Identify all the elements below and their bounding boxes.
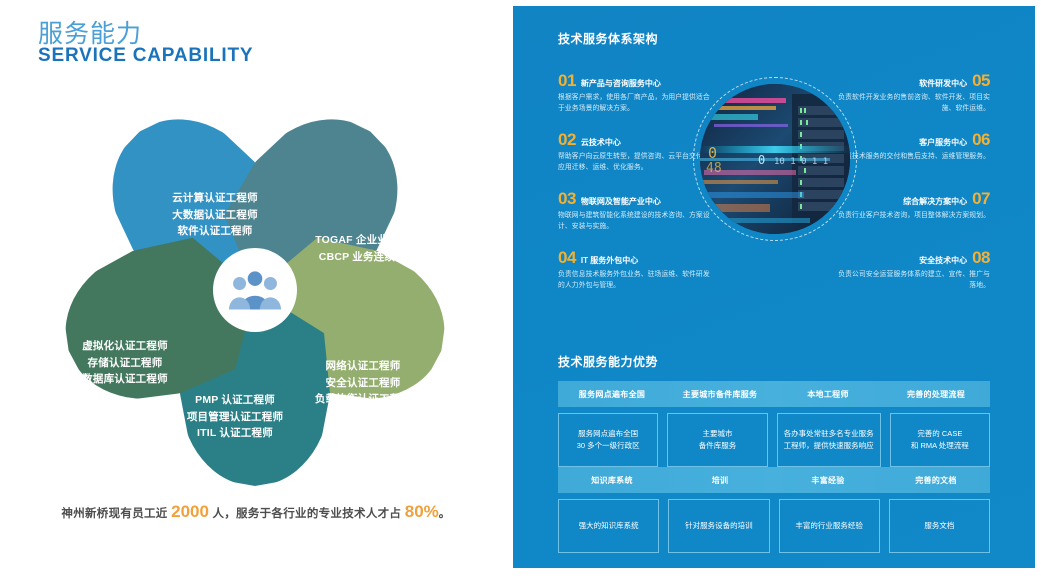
advantage-cell-line: 30 多个一级行政区 [577,440,640,452]
svg-text:0: 0 [758,153,765,167]
svg-text:48: 48 [706,161,722,176]
advantage-cell-line: 服务网点遍布全国 [578,428,638,440]
advantage-header-cell: 完善的处理流程 [882,381,990,407]
advantage-cell-line: 备件库服务 [699,440,737,452]
item-head: 客户服务中心06 [838,131,990,148]
item-head: 综合解决方案中心07 [838,190,990,207]
advantage-cell-line: 完善的 CASE [917,428,962,440]
item-head: 软件研发中心05 [838,72,990,89]
svg-text:0: 0 [708,144,717,162]
advantage-header-cell: 本地工程师 [774,381,882,407]
architecture-item-04[interactable]: 04IT 服务外包中心负责信息技术服务外包业务、驻场运维、软件研发的人力外包与管… [558,249,710,291]
caption-part2: 人，服务于各行业的专业技术人才占 [212,508,401,520]
architecture-item-05[interactable]: 软件研发中心05负责软件开发业务的售前咨询、软件开发、项目实施、软件运维。 [838,72,990,114]
item-label: 软件研发中心 [919,79,967,89]
advantage-body-row: 服务网点遍布全国30 多个一级行政区主要城市备件库服务各办事处常驻多名专业服务工… [558,413,990,467]
advantage-header-cell: 完善的文档 [882,467,990,493]
advantage-cell-line: 和 RMA 处理流程 [911,440,969,452]
advantage-header-cell: 丰富经验 [774,467,882,493]
advantage-header-cell: 服务网点遍布全国 [558,381,666,407]
advantage-cell[interactable]: 主要城市备件库服务 [667,413,767,467]
item-label: 新产品与咨询服务中心 [581,79,661,89]
advantage-header-cell: 主要城市备件库服务 [666,381,774,407]
item-label: IT 服务外包中心 [581,256,638,266]
item-number: 04 [558,249,576,266]
advantage-cell[interactable]: 强大的知识库系统 [558,499,659,553]
item-number: 08 [972,249,990,266]
advantage-cell-line: 各办事处常驻多名专业服务 [784,428,874,440]
advantage-cell[interactable]: 完善的 CASE和 RMA 处理流程 [890,413,990,467]
employee-caption: 神州新桥现有员工近 2000 人，服务于各行业的专业技术人才占 80%。 [0,502,512,522]
caption-part3: 。 [439,508,451,520]
item-label: 综合解决方案中心 [903,197,967,207]
item-description: 负责信息技术服务外包业务、驻场运维、软件研发的人力外包与管理。 [558,269,710,291]
advantage-cell[interactable]: 针对服务设备的培训 [668,499,769,553]
item-description: 负责技术服务的交付和售后支持、运维管理服务。 [838,151,990,162]
advantage-cell-line: 针对服务设备的培训 [685,520,753,532]
item-number: 07 [972,190,990,207]
item-description: 根据客户需求，使用各厂商产品，为用户提供适合于业务场景的解决方案。 [558,92,710,114]
item-description: 负责行业客户技术咨询，项目整体解决方案规划。 [838,210,990,221]
advantage-cell[interactable]: 服务文档 [889,499,990,553]
item-head: 02云技术中心 [558,131,710,148]
item-number: 01 [558,72,576,89]
data-center-photo: 0 48 0 10 1 0 1 1 [700,84,850,234]
item-head: 01新产品与咨询服务中心 [558,72,710,89]
item-number: 05 [972,72,990,89]
item-head: 03物联网及智能产业中心 [558,190,710,207]
architecture-item-02[interactable]: 02云技术中心帮助客户向云原生转型，提供咨询、云平台交付、应用迁移、运维、优化服… [558,131,710,173]
advantage-header-row: 服务网点遍布全国主要城市备件库服务本地工程师完善的处理流程 [558,381,990,407]
item-description: 负责软件开发业务的售前咨询、软件开发、项目实施、软件运维。 [838,92,990,114]
advantage-header-cell: 知识库系统 [558,467,666,493]
flower-diagram: 云计算认证工程师大数据认证工程师软件认证工程师TOGAF 企业业务架构师CBCP… [30,80,480,480]
people-group-icon [229,264,281,316]
flower-hub [213,248,297,332]
item-label: 客户服务中心 [919,138,967,148]
caption-number-percent: 80% [405,502,439,521]
architecture-item-01[interactable]: 01新产品与咨询服务中心根据客户需求，使用各厂商产品，为用户提供适合于业务场景的… [558,72,710,114]
advantage-cell[interactable]: 服务网点遍布全国30 多个一级行政区 [558,413,658,467]
architecture-item-08[interactable]: 安全技术中心08负责公司安全运营服务体系的建立、宣传、推广与落地。 [838,249,990,291]
caption-part1: 神州新桥现有员工近 [61,508,167,520]
item-label: 云技术中心 [581,138,621,148]
item-label: 安全技术中心 [919,256,967,266]
advantage-cell[interactable]: 丰富的行业服务经验 [779,499,880,553]
architecture-item-06[interactable]: 客户服务中心06负责技术服务的交付和售后支持、运维管理服务。 [838,131,990,162]
item-number: 06 [972,131,990,148]
advantage-cell-line: 工程师，提供快速服务响应 [784,440,874,452]
advantage-cell-line: 服务文档 [924,520,954,532]
advantage-cell-line: 丰富的行业服务经验 [795,520,863,532]
svg-text:10 1 0 1 1: 10 1 0 1 1 [774,157,828,167]
item-description: 负责公司安全运营服务体系的建立、宣传、推广与落地。 [838,269,990,291]
item-head: 04IT 服务外包中心 [558,249,710,266]
right-panel: 技术服务体系架构 01新产品与咨询服务中心根据客户需求，使用各厂商产品，为用户提… [513,6,1035,568]
page-title-en: SERVICE CAPABILITY [38,45,253,67]
item-description: 物联网与建筑智能化系统建设的技术咨询、方案设计、安装与实施。 [558,210,710,232]
advantage-body-row: 强大的知识库系统针对服务设备的培训丰富的行业服务经验服务文档 [558,499,990,553]
advantage-cell-line: 强大的知识库系统 [579,520,639,532]
caption-number-employees: 2000 [171,502,209,521]
architecture-item-07[interactable]: 综合解决方案中心07负责行业客户技术咨询，项目整体解决方案规划。 [838,190,990,221]
photo-image: 0 48 0 10 1 0 1 1 [700,84,850,234]
item-label: 物联网及智能产业中心 [581,197,661,207]
advantage-header-cell: 培训 [666,467,774,493]
item-number: 03 [558,190,576,207]
advantage-cell-line: 主要城市 [702,428,732,440]
item-number: 02 [558,131,576,148]
item-head: 安全技术中心08 [838,249,990,266]
item-description: 帮助客户向云原生转型，提供咨询、云平台交付、应用迁移、运维、优化服务。 [558,151,710,173]
left-panel: 服务能力 SERVICE CAPABILITY 云计算认证工程师大数据认证工程师… [0,0,512,576]
slide-page: 服务能力 SERVICE CAPABILITY 云计算认证工程师大数据认证工程师… [0,0,1041,576]
advantage-header-row: 知识库系统培训丰富经验完善的文档 [558,467,990,493]
advantage-table: 服务网点遍布全国主要城市备件库服务本地工程师完善的处理流程服务网点遍布全国30 … [558,381,990,467]
advantage-section-title: 技术服务能力优势 [558,353,658,370]
advantage-cell[interactable]: 各办事处常驻多名专业服务工程师，提供快速服务响应 [777,413,881,467]
advantage-table: 知识库系统培训丰富经验完善的文档强大的知识库系统针对服务设备的培训丰富的行业服务… [558,467,990,553]
architecture-section-title: 技术服务体系架构 [558,30,658,47]
architecture-item-03[interactable]: 03物联网及智能产业中心物联网与建筑智能化系统建设的技术咨询、方案设计、安装与实… [558,190,710,232]
